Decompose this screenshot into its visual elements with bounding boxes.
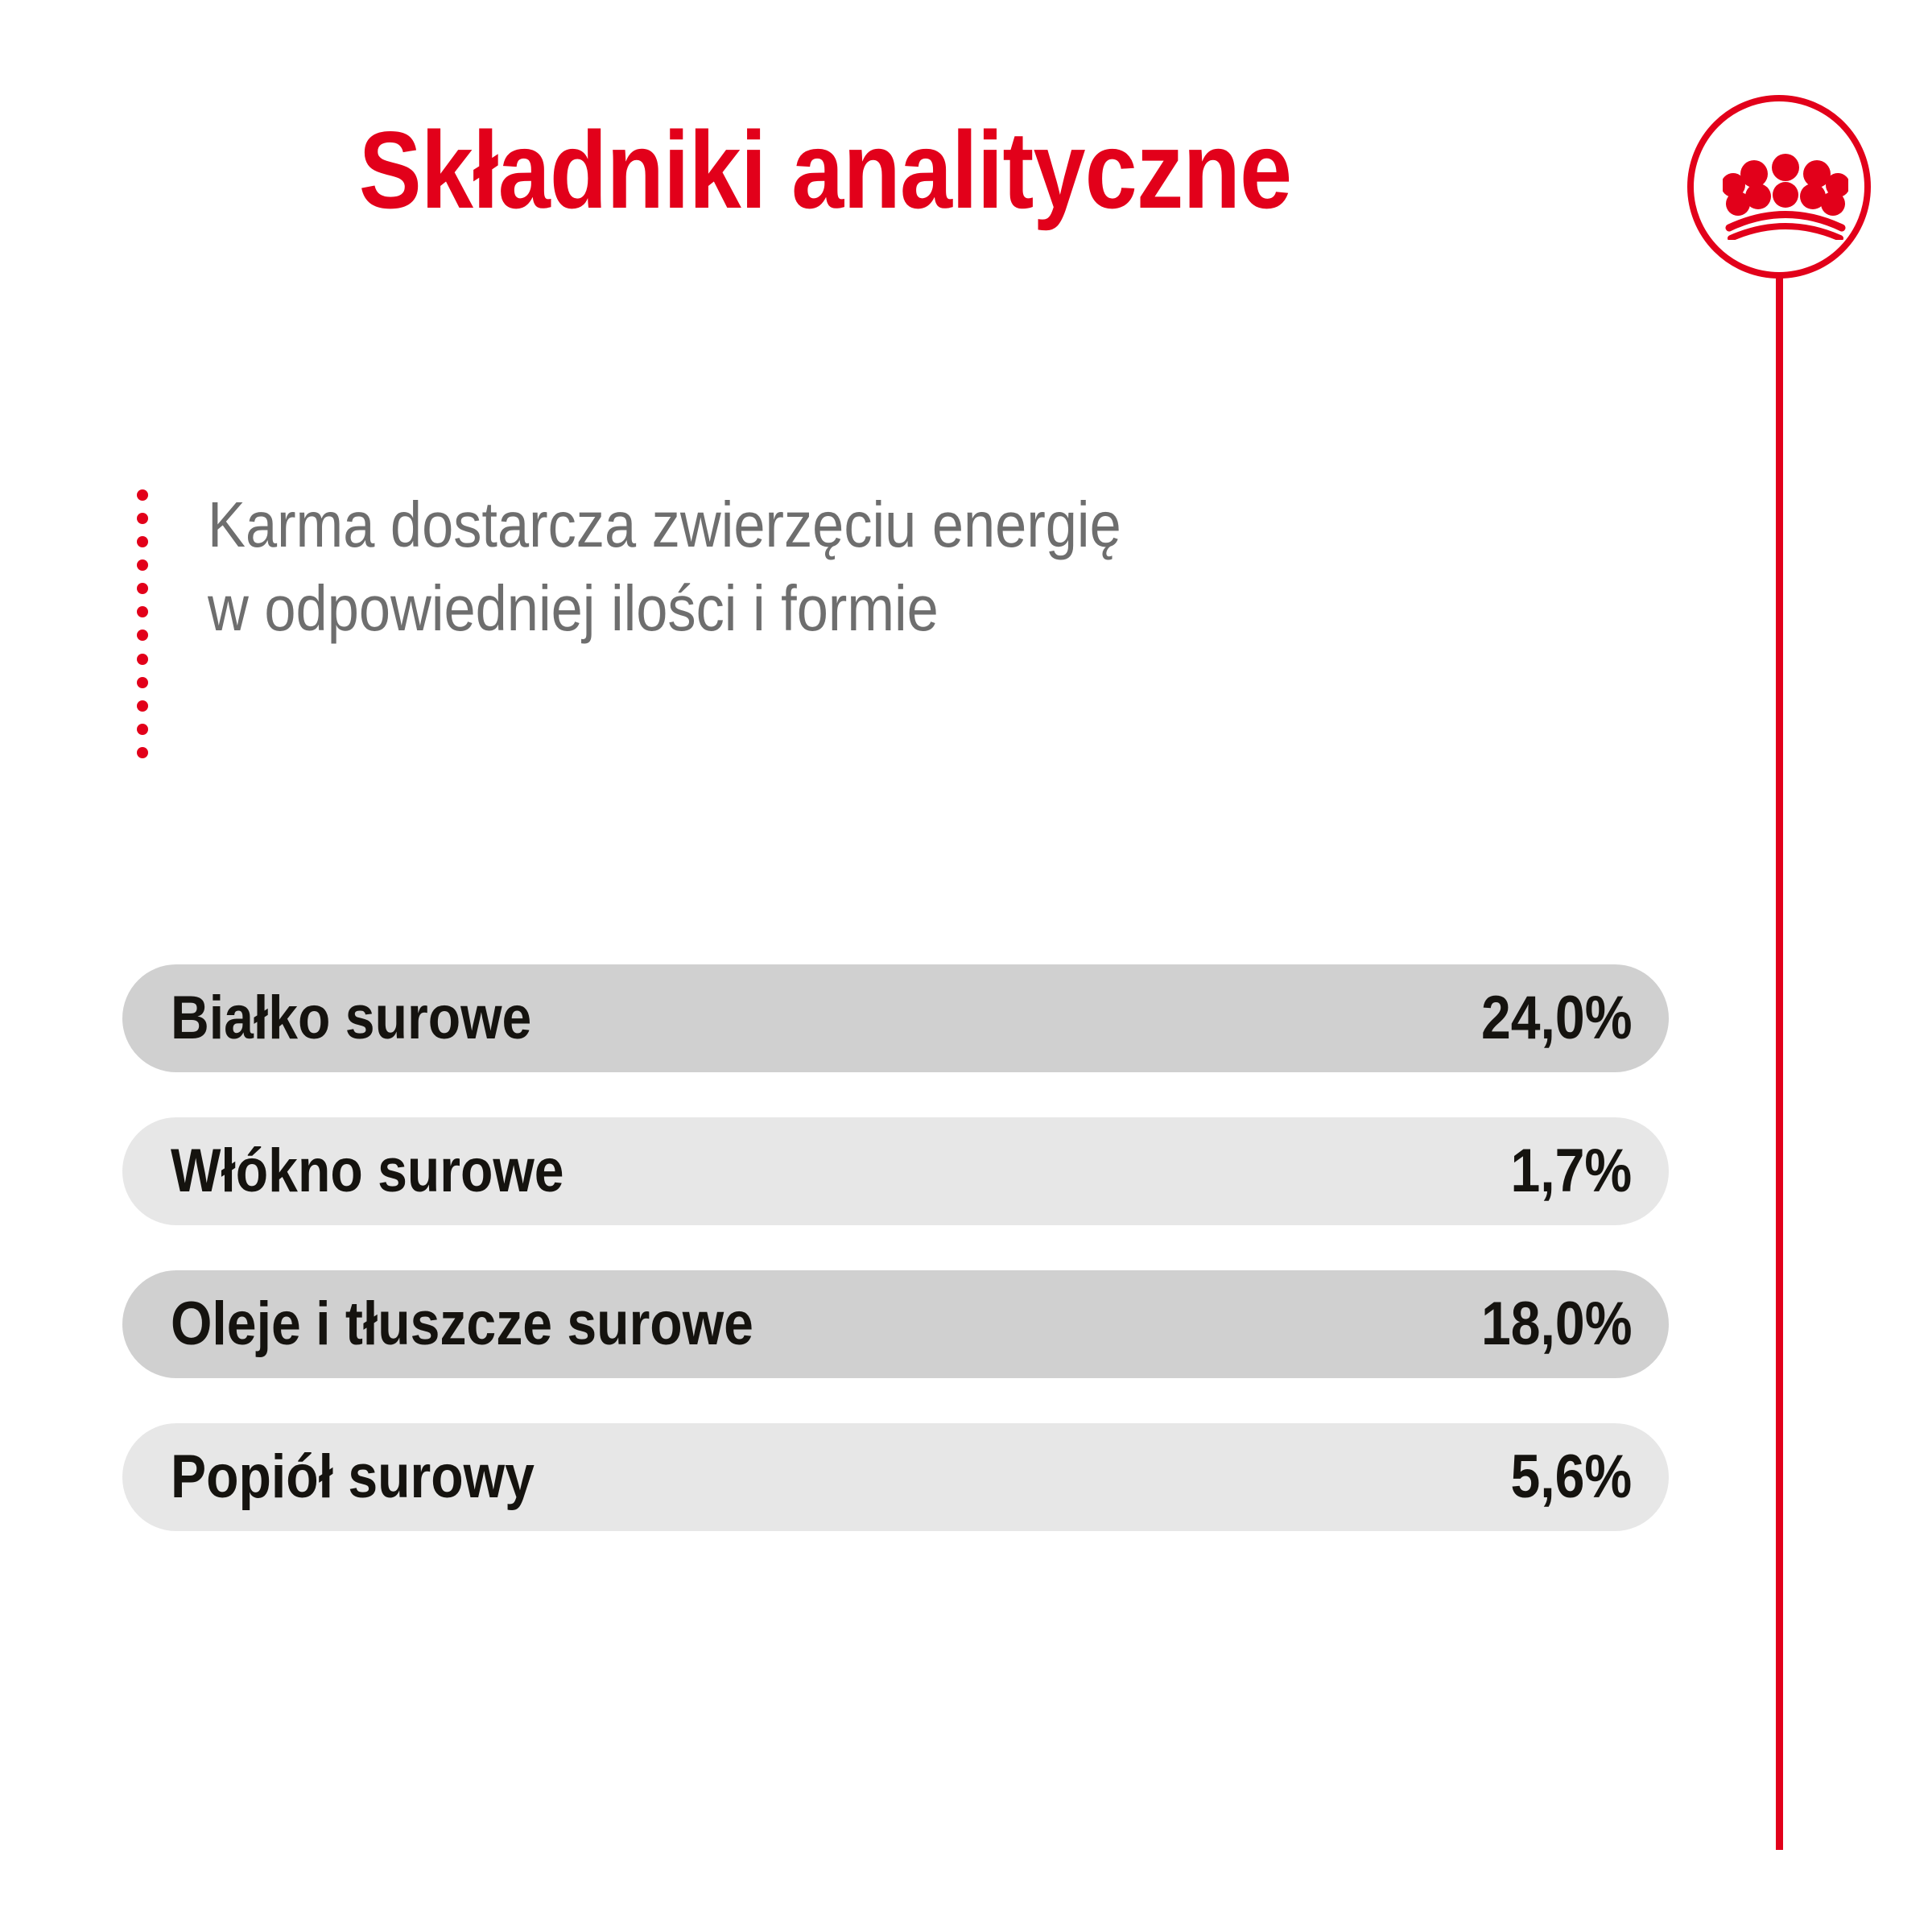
table-row: Białko surowe 24,0% [122, 964, 1669, 1072]
analytical-constituents-list: Białko surowe 24,0% Włókno surowe 1,7% O… [122, 964, 1669, 1531]
constituent-value: 5,6% [1510, 1447, 1632, 1508]
brand-vertical-line [1776, 274, 1783, 1850]
constituent-label: Białko surowe [171, 988, 531, 1049]
table-row: Włókno surowe 1,7% [122, 1117, 1669, 1225]
dotted-vertical-rule-icon [137, 489, 148, 758]
constituent-label: Włókno surowe [171, 1141, 564, 1202]
constituent-value: 18,0% [1481, 1294, 1632, 1355]
subtitle-line-2: w odpowiedniej ilości i formie [208, 567, 1121, 650]
table-row: Oleje i tłuszcze surowe 18,0% [122, 1270, 1669, 1378]
royal-canin-crown-icon [1723, 150, 1848, 240]
page-title: Składniki analityczne [116, 113, 1535, 228]
subtitle-line-1: Karma dostarcza zwierzęciu energię [208, 483, 1121, 567]
brand-marker [1687, 95, 1897, 1850]
constituent-value: 1,7% [1510, 1141, 1632, 1202]
brand-logo-circle [1687, 95, 1871, 279]
constituent-label: Oleje i tłuszcze surowe [171, 1294, 753, 1355]
subtitle-block: Karma dostarcza zwierzęciu energię w odp… [137, 483, 1505, 758]
subtitle-text: Karma dostarcza zwierzęciu energię w odp… [208, 483, 1121, 650]
constituent-label: Popiół surowy [171, 1447, 535, 1508]
table-row: Popiół surowy 5,6% [122, 1423, 1669, 1531]
constituent-value: 24,0% [1481, 988, 1632, 1049]
